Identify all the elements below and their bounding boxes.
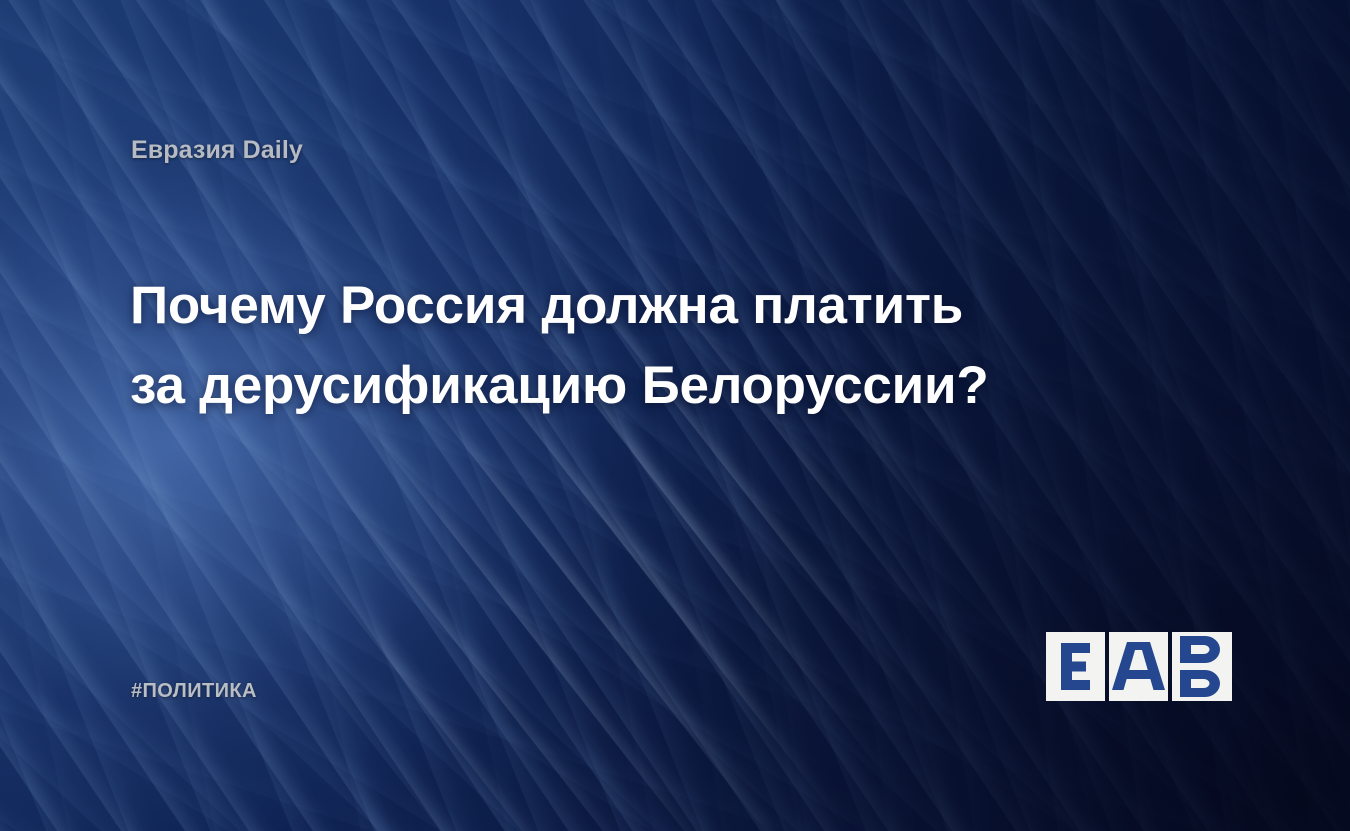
news-card: Евразия Daily Почему Россия должна плати… — [0, 0, 1350, 831]
headline-line-2: за дерусификацию Белоруссии? — [130, 346, 1030, 426]
letter-a-glyph — [1112, 642, 1165, 690]
page-title: Почему Россия должна платить за дерусифи… — [130, 266, 1030, 426]
card-content: Евразия Daily Почему Россия должна плати… — [0, 0, 1350, 831]
brand-title: Евразия Daily — [131, 136, 303, 165]
logo-tile-a — [1109, 632, 1168, 701]
category-hashtag[interactable]: #ПОЛИТИКА — [131, 680, 257, 703]
letter-double-d-glyph — [1180, 636, 1220, 697]
headline-line-1: Почему Россия должна платить — [130, 266, 1030, 346]
logo-tile-e — [1046, 632, 1105, 701]
letter-e-glyph — [1061, 643, 1090, 690]
eadaily-logo[interactable] — [1046, 632, 1232, 701]
logo-tile-dd — [1172, 632, 1232, 701]
